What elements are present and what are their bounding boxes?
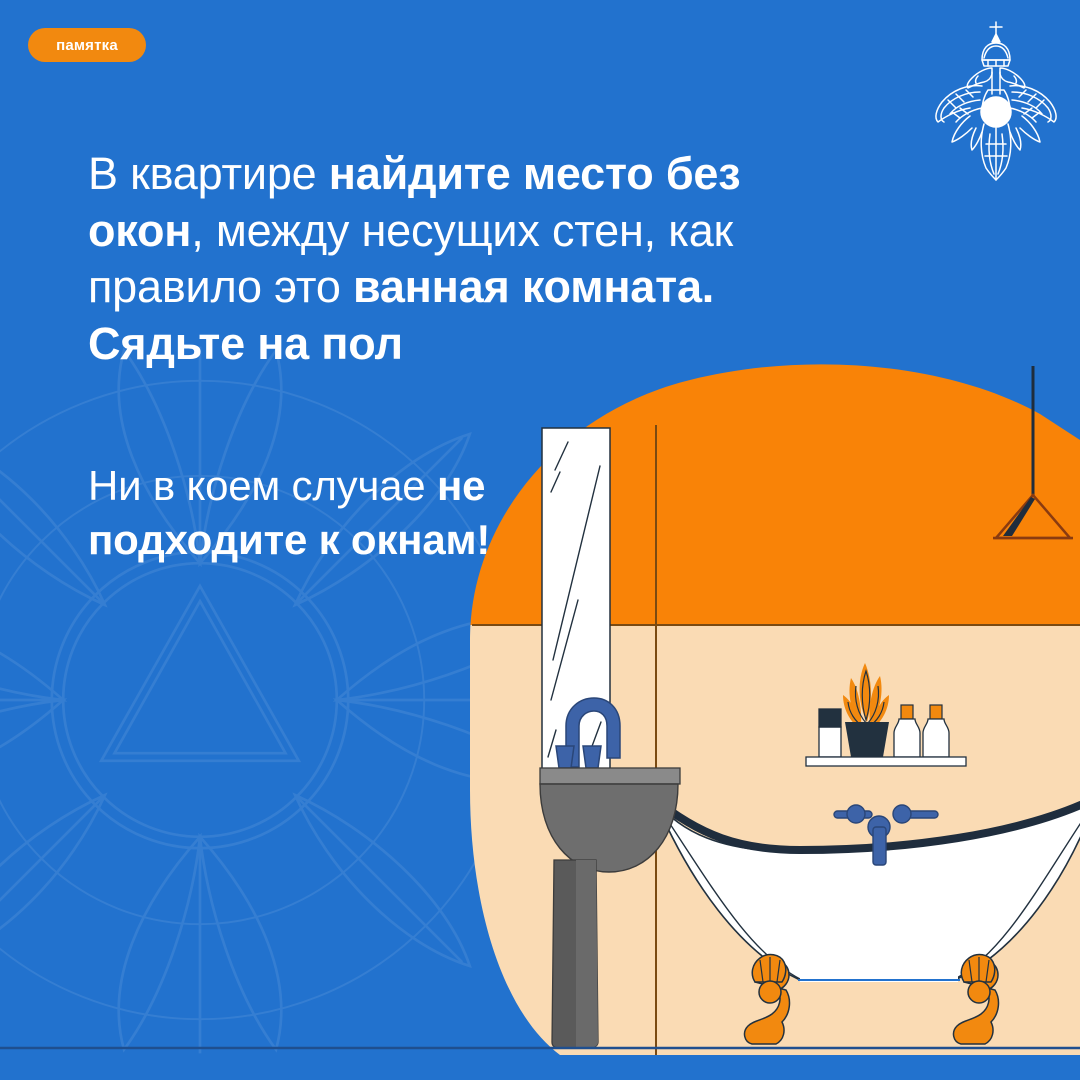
emercom-eagle-icon (926, 16, 1066, 186)
claw-foot-left (745, 955, 790, 1044)
p1-seg-0: В квартире (88, 148, 329, 199)
claw-foot-right (954, 955, 999, 1044)
pendant-lamp-shape (993, 366, 1073, 538)
paragraph-warning: Ни в коем случае не подходите к окнам! (88, 459, 558, 567)
wall-shelf-group (806, 663, 966, 766)
copy-block: В квартире найдите место без окон, между… (88, 146, 808, 566)
basin-faucet-shape (556, 698, 620, 768)
memo-badge: памятка (28, 28, 146, 62)
poster-canvas: памятка (0, 0, 1080, 1080)
clawfoot-bathtub-shape (652, 797, 1080, 1044)
wash-basin-shape (540, 698, 680, 1048)
p2-seg-0: Ни в коем случае (88, 462, 437, 509)
paragraph-primary: В квартире найдите место без окон, между… (88, 146, 808, 373)
potted-plant-leaves (843, 663, 889, 730)
bathtub-faucet-shape (834, 805, 938, 865)
memo-badge-label: памятка (56, 37, 118, 54)
